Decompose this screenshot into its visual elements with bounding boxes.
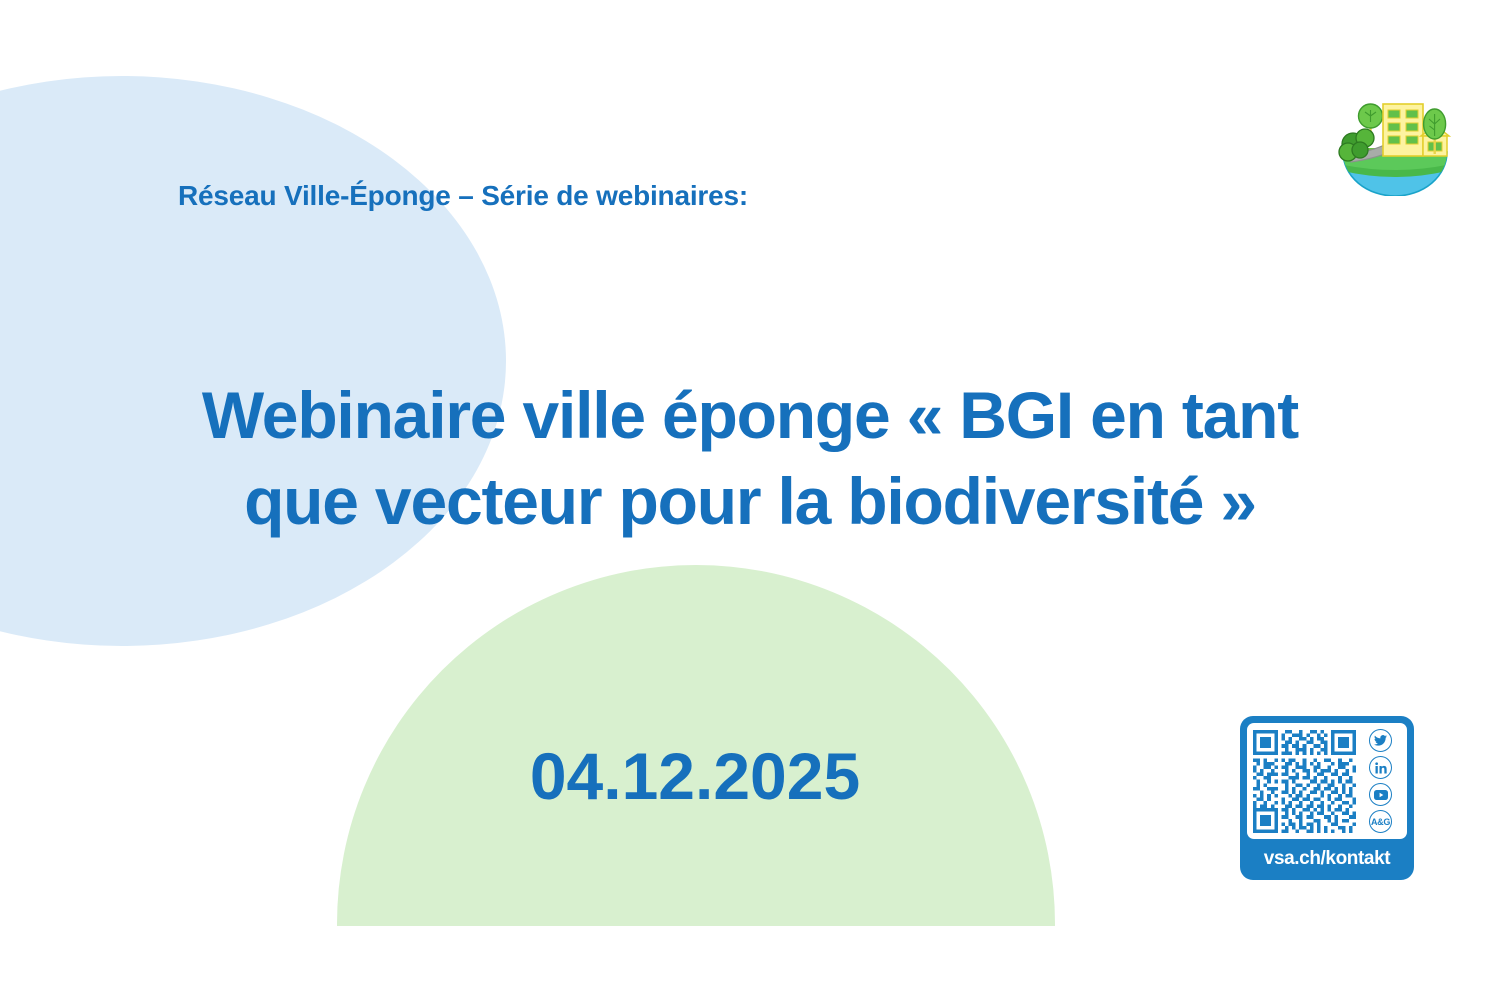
linkedin-icon[interactable] bbox=[1369, 756, 1392, 779]
page-title-line-1: Webinaire ville éponge « BGI en tant bbox=[0, 372, 1500, 458]
sponge-city-logo bbox=[1329, 92, 1461, 196]
page-title: Webinaire ville éponge « BGI en tant que… bbox=[0, 372, 1500, 544]
ag-icon-label: A&G bbox=[1371, 817, 1390, 827]
qr-code-icon bbox=[1253, 730, 1356, 833]
webinar-title-slide: Réseau Ville-Éponge – Série de webinaire… bbox=[0, 0, 1500, 1001]
qr-badge-caption: vsa.ch/kontakt bbox=[1247, 839, 1407, 880]
qr-code-panel: A&G bbox=[1247, 723, 1407, 839]
event-date: 04.12.2025 bbox=[0, 736, 1390, 816]
qr-contact-badge[interactable]: A&G vsa.ch/kontakt bbox=[1240, 716, 1414, 880]
social-links-column: A&G bbox=[1356, 729, 1401, 833]
series-eyebrow: Réseau Ville-Éponge – Série de webinaire… bbox=[178, 180, 748, 212]
twitter-icon[interactable] bbox=[1369, 729, 1392, 752]
page-title-line-2: que vecteur pour la biodiversité » bbox=[0, 458, 1500, 544]
ag-icon[interactable]: A&G bbox=[1369, 810, 1392, 833]
youtube-icon[interactable] bbox=[1369, 783, 1392, 806]
